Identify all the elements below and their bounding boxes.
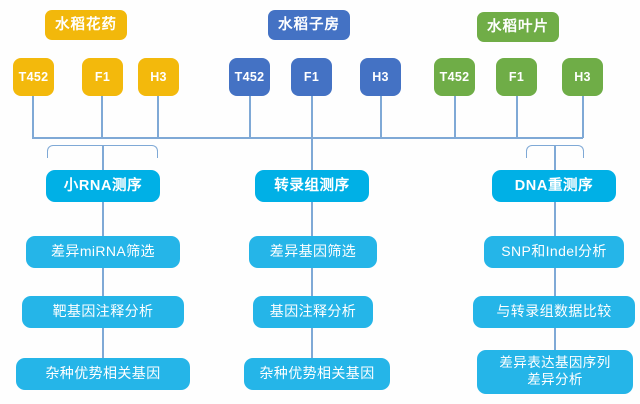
sample-anther-t452-label: T452	[19, 70, 49, 84]
pipeline-transcriptome-step-3: 杂种优势相关基因	[244, 358, 390, 390]
sample-leaf-f1-label: F1	[509, 70, 524, 84]
connector-drop-ovary-f1	[311, 96, 313, 138]
connector-dna-reseq-1	[554, 202, 556, 236]
tissue-header-anther-label: 水稻花药	[55, 17, 117, 33]
sample-leaf-f1: F1	[496, 58, 537, 96]
connector-main-bus	[32, 137, 583, 139]
sample-leaf-h3-label: H3	[574, 70, 591, 84]
connector-dna-reseq-3	[554, 328, 556, 350]
connector-drop-ovary-t452	[249, 96, 251, 138]
sample-leaf-h3: H3	[562, 58, 603, 96]
sample-ovary-h3-label: H3	[372, 70, 389, 84]
pipeline-dna-reseq-step-2-label: 与转录组数据比较	[496, 304, 611, 320]
pipeline-small-rna-step-1-label: 差异miRNA筛选	[51, 244, 155, 260]
sample-ovary-h3: H3	[360, 58, 401, 96]
pipeline-dna-reseq-step-3-label: 差异表达基因序列 差异分析	[499, 355, 610, 389]
flowchart-canvas: 水稻花药 水稻子房 水稻叶片 T452 F1 H3 T452 F1 H3 T45…	[0, 0, 640, 404]
pipeline-transcriptome-step-1: 差异基因筛选	[249, 236, 377, 268]
pipeline-small-rna-step-3-label: 杂种优势相关基因	[45, 366, 160, 382]
connector-small-rna-3	[102, 328, 104, 358]
connector-drop-anther-h3	[157, 96, 159, 138]
connector-drop-anther-t452	[32, 96, 34, 138]
pipeline-dna-reseq-step-1: SNP和Indel分析	[484, 236, 624, 268]
connector-drop-anther-f1	[101, 96, 103, 138]
tissue-header-ovary-label: 水稻子房	[278, 17, 340, 33]
pipeline-small-rna-step-2-label: 靶基因注释分析	[53, 304, 154, 320]
pipeline-transcriptome-step-1-label: 差异基因筛选	[270, 244, 356, 260]
sample-anther-f1-label: F1	[95, 70, 110, 84]
pipeline-small-rna-title-label: 小RNA测序	[64, 178, 143, 194]
pipeline-transcriptome-title: 转录组测序	[255, 170, 369, 202]
sample-ovary-t452-label: T452	[235, 70, 265, 84]
tissue-header-ovary: 水稻子房	[268, 10, 350, 40]
connector-stem-small-rna	[102, 145, 104, 171]
tissue-header-anther: 水稻花药	[45, 10, 127, 40]
pipeline-small-rna-step-1: 差异miRNA筛选	[26, 236, 180, 268]
sample-leaf-t452-label: T452	[440, 70, 470, 84]
connector-drop-leaf-t452	[454, 96, 456, 138]
sample-ovary-t452: T452	[229, 58, 270, 96]
pipeline-dna-reseq-step-2: 与转录组数据比较	[473, 296, 635, 328]
pipeline-transcriptome-step-3-label: 杂种优势相关基因	[259, 366, 374, 382]
pipeline-dna-reseq-step-3: 差异表达基因序列 差异分析	[477, 350, 633, 394]
connector-transcriptome-1	[311, 202, 313, 236]
connector-transcriptome-2	[311, 268, 313, 296]
connector-drop-ovary-h3	[380, 96, 382, 138]
pipeline-dna-reseq-title-label: DNA重测序	[515, 178, 594, 194]
connector-transcriptome-3	[311, 328, 313, 358]
connector-drop-leaf-f1	[516, 96, 518, 138]
connector-dna-reseq-2	[554, 268, 556, 296]
pipeline-small-rna-step-2: 靶基因注释分析	[22, 296, 184, 328]
sample-anther-h3-label: H3	[150, 70, 167, 84]
pipeline-transcriptome-step-2-label: 基因注释分析	[270, 304, 356, 320]
sample-ovary-f1: F1	[291, 58, 332, 96]
connector-drop-leaf-h3	[582, 96, 584, 138]
sample-anther-h3: H3	[138, 58, 179, 96]
pipeline-transcriptome-step-2: 基因注释分析	[253, 296, 373, 328]
sample-anther-f1: F1	[82, 58, 123, 96]
pipeline-small-rna-title: 小RNA测序	[46, 170, 160, 202]
connector-small-rna-1	[102, 202, 104, 236]
connector-small-rna-2	[102, 268, 104, 296]
pipeline-dna-reseq-title: DNA重测序	[492, 170, 616, 202]
sample-ovary-f1-label: F1	[304, 70, 319, 84]
sample-anther-t452: T452	[13, 58, 54, 96]
connector-stem-transcriptome	[311, 137, 313, 171]
pipeline-dna-reseq-step-1-label: SNP和Indel分析	[501, 244, 607, 260]
pipeline-transcriptome-title-label: 转录组测序	[274, 178, 350, 194]
tissue-header-leaf: 水稻叶片	[477, 12, 559, 42]
connector-stem-dna-reseq	[554, 145, 556, 171]
tissue-header-leaf-label: 水稻叶片	[487, 19, 549, 35]
sample-leaf-t452: T452	[434, 58, 475, 96]
pipeline-small-rna-step-3: 杂种优势相关基因	[16, 358, 190, 390]
